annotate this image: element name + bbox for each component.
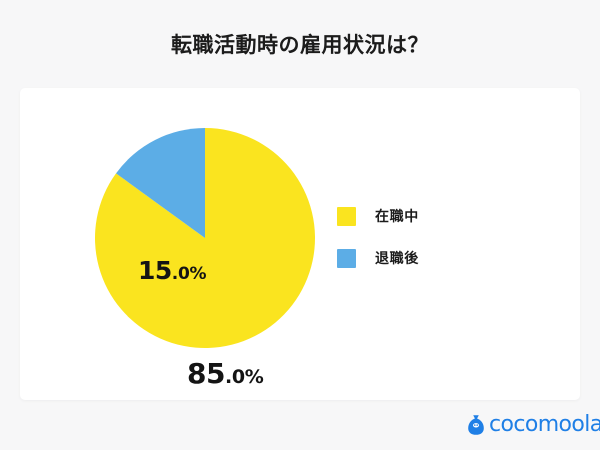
pie-value-label-zaishokuchu: 85.0% <box>187 360 264 388</box>
pie-value-decimal: .0% <box>225 366 264 388</box>
page-title: 転職活動時の雇用状況は？ <box>0 30 600 60</box>
infographic-canvas: 転職活動時の雇用状況は？ 15.0% 85.0% 在職中 退職後 <box>0 0 600 450</box>
legend-swatch-icon <box>337 207 356 226</box>
legend-item-label: 退職後 <box>375 248 419 268</box>
pie-value-integer: 85 <box>187 357 225 390</box>
pie-value-decimal: .0% <box>172 264 206 284</box>
chart-legend: 在職中 退職後 <box>337 206 517 290</box>
legend-item-label: 在職中 <box>375 206 419 226</box>
brand-logo[interactable]: cocomoola <box>466 412 600 438</box>
money-bag-icon <box>466 414 486 436</box>
pie-chart <box>75 108 335 368</box>
legend-item-taishokugo[interactable]: 退職後 <box>337 248 517 268</box>
legend-swatch-icon <box>337 249 356 268</box>
pie-value-integer: 15 <box>138 256 172 285</box>
legend-item-zaishokuchu[interactable]: 在職中 <box>337 206 517 226</box>
chart-card: 15.0% 85.0% 在職中 退職後 <box>20 88 580 400</box>
pie-chart-svg <box>75 108 335 368</box>
brand-name: cocomoola <box>489 414 600 436</box>
pie-value-label-taishokugo: 15.0% <box>138 258 206 283</box>
